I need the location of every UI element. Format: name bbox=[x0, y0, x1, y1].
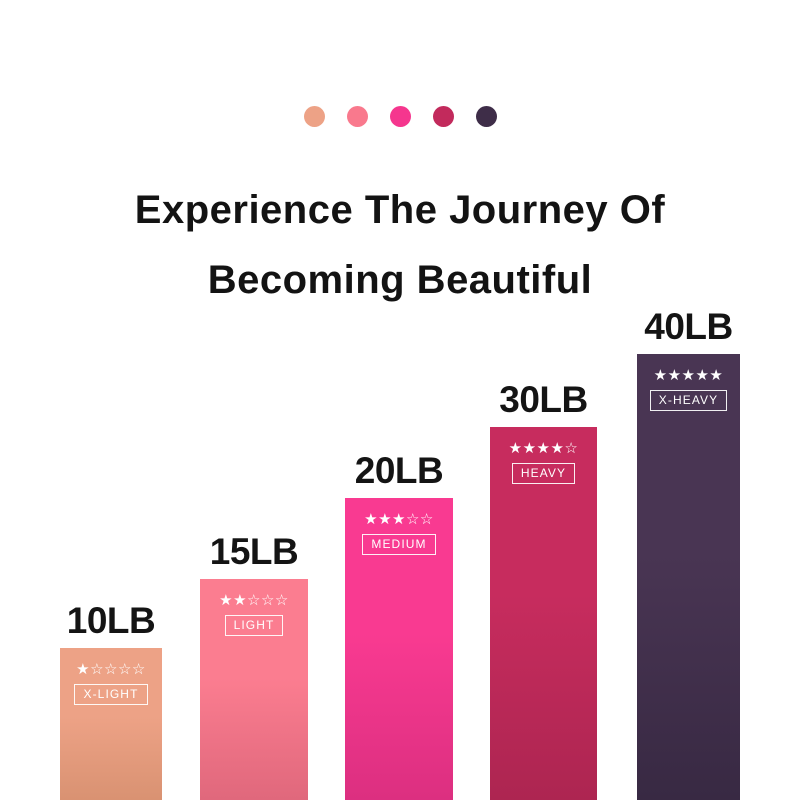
star-rating-icon: ★☆☆☆☆ bbox=[76, 662, 146, 677]
bar-group-x-heavy[interactable]: 40LB★★★★★X-HEAVY bbox=[637, 354, 740, 800]
grade-badge: X-LIGHT bbox=[74, 684, 147, 705]
bar-rect[interactable]: ★★★★☆HEAVY bbox=[490, 427, 597, 800]
grade-badge: X-HEAVY bbox=[650, 390, 728, 411]
bar-badge-stack: ★★☆☆☆LIGHT bbox=[200, 593, 308, 636]
bar-badge-stack: ★★★☆☆MEDIUM bbox=[345, 512, 453, 555]
bar-group-x-light[interactable]: 10LB★☆☆☆☆X-LIGHT bbox=[60, 648, 162, 800]
bar-badge-stack: ★★★★☆HEAVY bbox=[490, 441, 597, 484]
bar-rect[interactable]: ★★☆☆☆LIGHT bbox=[200, 579, 308, 800]
bar-rect[interactable]: ★☆☆☆☆X-LIGHT bbox=[60, 648, 162, 800]
star-rating-icon: ★★★☆☆ bbox=[364, 512, 434, 527]
bar-value-label: 15LB bbox=[210, 531, 298, 573]
star-rating-icon: ★★★★☆ bbox=[509, 441, 579, 456]
bar-value-label: 40LB bbox=[644, 306, 732, 348]
resistance-band-bar-chart: 10LB★☆☆☆☆X-LIGHT15LB★★☆☆☆LIGHT20LB★★★☆☆M… bbox=[0, 0, 800, 800]
bar-value-label: 10LB bbox=[67, 600, 155, 642]
bar-badge-stack: ★☆☆☆☆X-LIGHT bbox=[60, 662, 162, 705]
grade-badge: HEAVY bbox=[512, 463, 575, 484]
bar-group-light[interactable]: 15LB★★☆☆☆LIGHT bbox=[200, 579, 308, 800]
bar-rect[interactable]: ★★★☆☆MEDIUM bbox=[345, 498, 453, 800]
star-rating-icon: ★★★★★ bbox=[654, 368, 724, 383]
grade-badge: LIGHT bbox=[225, 615, 284, 636]
bar-badge-stack: ★★★★★X-HEAVY bbox=[637, 368, 740, 411]
bar-fill bbox=[637, 354, 740, 800]
bar-value-label: 30LB bbox=[499, 379, 587, 421]
star-rating-icon: ★★☆☆☆ bbox=[219, 593, 289, 608]
grade-badge: MEDIUM bbox=[362, 534, 435, 555]
bar-group-heavy[interactable]: 30LB★★★★☆HEAVY bbox=[490, 427, 597, 800]
bar-value-label: 20LB bbox=[355, 450, 443, 492]
bar-rect[interactable]: ★★★★★X-HEAVY bbox=[637, 354, 740, 800]
bar-group-medium[interactable]: 20LB★★★☆☆MEDIUM bbox=[345, 498, 453, 800]
